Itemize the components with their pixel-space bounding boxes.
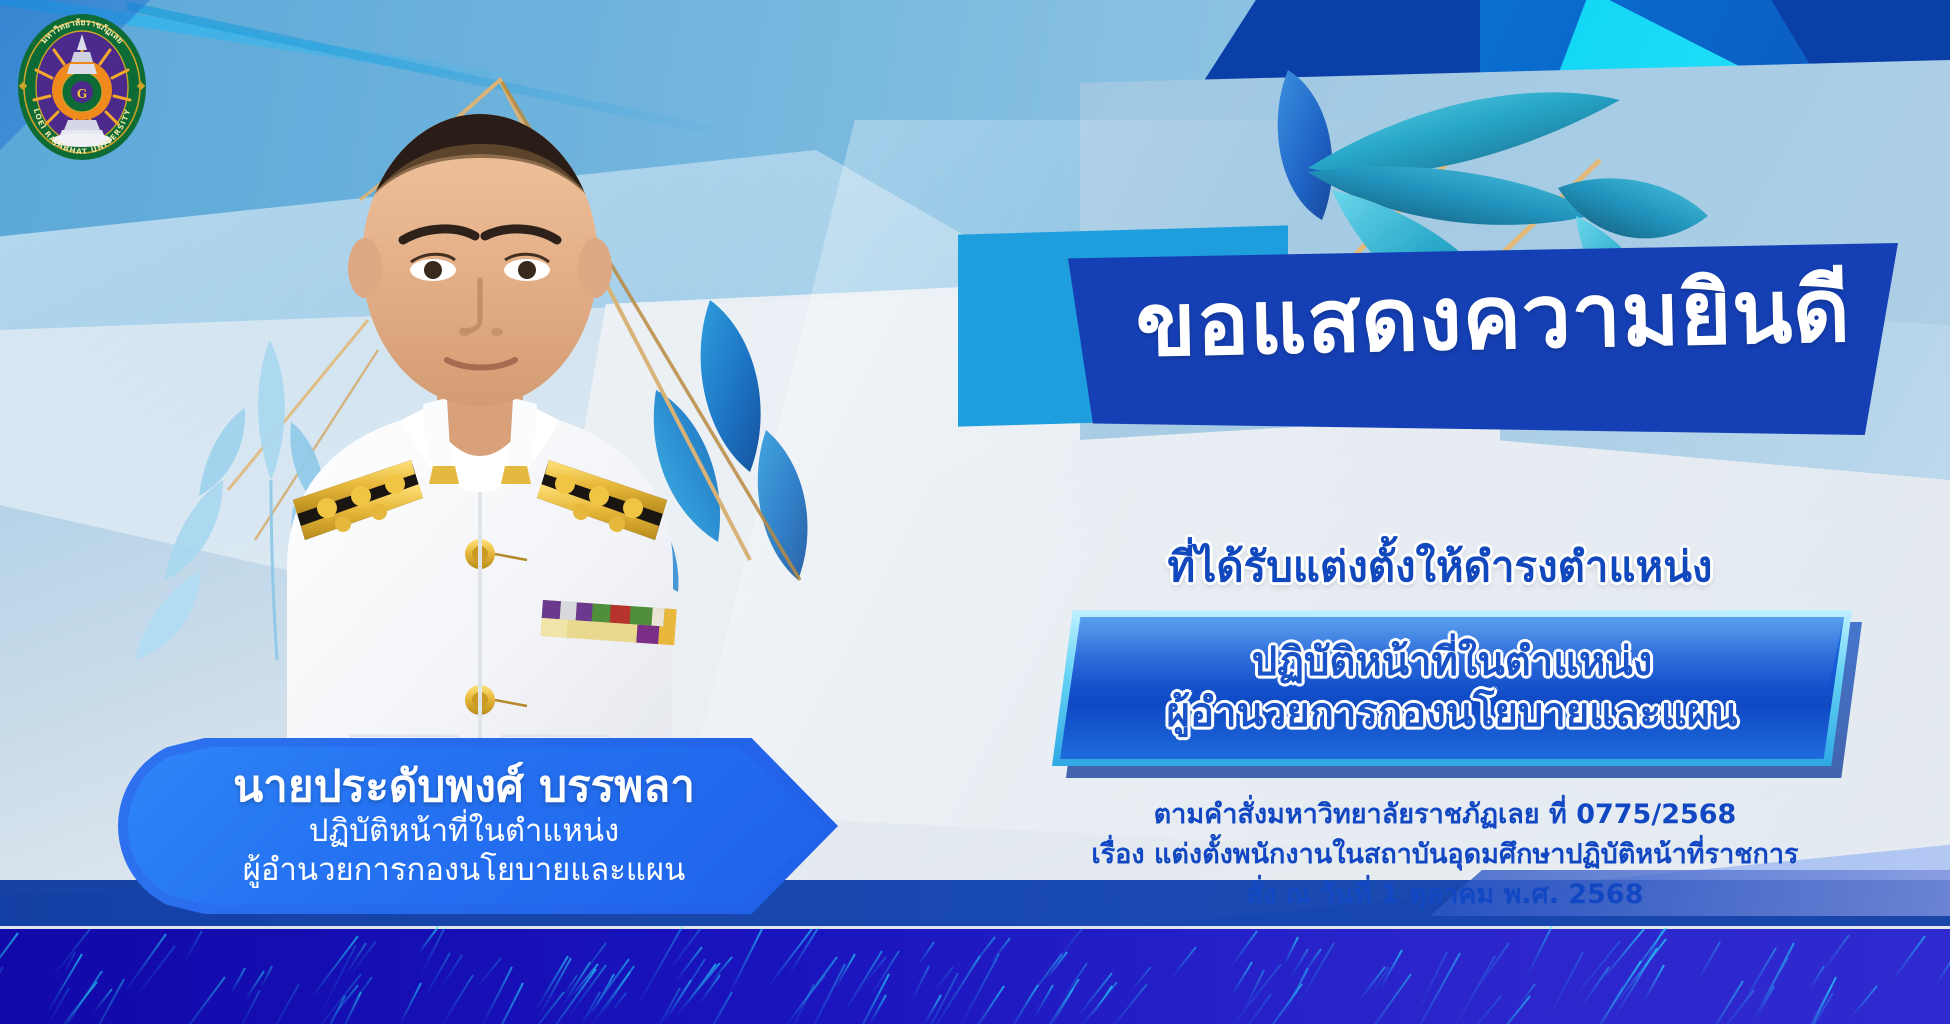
bottom-strip-dash	[1414, 952, 1461, 1024]
bottom-strip-dash	[835, 954, 856, 989]
congratulations-banner: G มหาวิทยาลัยราชภัฏเลย LOEI RAJABHAT UNI…	[0, 0, 1950, 1024]
subtitle-text: ที่ได้รับแต่งตั้งให้ดำรงตำแหน่ง	[1000, 540, 1880, 595]
honoree-role-line1: ปฏิบัติหน้าที่ในตำแหน่ง	[309, 812, 619, 851]
bottom-strip-dash	[1230, 931, 1258, 968]
bottom-strip-dash	[728, 928, 763, 995]
bottom-strip-dash	[0, 967, 4, 992]
order-line-3: สั่ง ณ วันที่ 1 ตุลาคม พ.ศ. 2568	[1000, 875, 1890, 915]
bottom-strip-dash	[1643, 964, 1665, 1001]
bottom-strip-dash	[1696, 942, 1721, 983]
bottom-strip-dash	[1091, 985, 1113, 1016]
headline-banner: ขอแสดงความยินดี	[958, 225, 1938, 435]
position-line-1: ปฏิบัติหน้าที่ในตำแหน่ง	[1252, 637, 1653, 688]
bottom-strip-dash	[1850, 985, 1878, 1018]
bottom-strip-dash	[869, 995, 887, 1024]
bottom-strip-dash	[958, 954, 1001, 1024]
svg-text:G: G	[77, 87, 87, 101]
honoree-name: นายประดับพงศ์ บรรพลา	[233, 762, 695, 811]
nameplate: นายประดับพงศ์ บรรพลา ปฏิบัติหน้าที่ในตำแ…	[118, 738, 838, 914]
nameplate-content: นายประดับพงศ์ บรรพลา ปฏิบัติหน้าที่ในตำแ…	[118, 738, 838, 914]
position-line-2: ผู้อำนวยการกองนโยบายและแผน	[1167, 688, 1738, 739]
bottom-strip-dash	[1519, 984, 1536, 1006]
bottom-strip-dash	[1809, 966, 1825, 990]
bottom-strip-dash	[1059, 963, 1088, 1004]
bottom-strip-dash	[172, 976, 226, 1024]
bottom-strip-dash	[766, 929, 812, 989]
position-box: ปฏิบัติหน้าที่ในตำแหน่ง ผู้อำนวยการกองนโ…	[1052, 610, 1852, 766]
bottom-strip-dash	[1231, 962, 1253, 997]
bottom-strip-dash	[969, 985, 1005, 1024]
order-line-1: ตามคำสั่งมหาวิทยาลัยราชภัฏเลย ที่ 0775/2…	[1000, 795, 1890, 835]
order-line-2: เรื่อง แต่งตั้งพนักงานในสถาบันอุดมศึกษาป…	[1000, 835, 1890, 875]
bottom-strip-dash	[698, 974, 721, 1005]
bottom-strip-dash	[258, 983, 301, 1024]
bottom-strip-dash	[399, 982, 423, 1024]
headline-text: ขอแสดงความยินดี	[1097, 255, 1889, 382]
bottom-strip-dash	[230, 968, 246, 996]
bottom-strip-dash	[1589, 986, 1624, 1024]
bottom-strip-dash	[1295, 943, 1334, 1007]
bottom-strip-dash	[1045, 951, 1068, 980]
bottom-strip-dash	[1525, 926, 1552, 979]
bottom-strip-dash	[438, 955, 463, 992]
position-box-text: ปฏิบัติหน้าที่ในตำแหน่ง ผู้อำนวยการกองนโ…	[1052, 610, 1852, 766]
bottom-strip-hairline	[0, 926, 1950, 929]
bottom-strip-dash	[1106, 983, 1148, 1024]
bottom-strip-dash	[1706, 980, 1744, 1024]
bottom-strip-dash	[1546, 951, 1584, 1021]
bottom-strip-dash	[909, 965, 930, 1004]
bottom-strip-dash	[1935, 957, 1950, 985]
university-logo: G มหาวิทยาลัยราชภัฏเลย LOEI RAJABHAT UNI…	[14, 12, 150, 162]
bottom-strip-dash	[83, 979, 125, 1024]
bottom-strip-dash	[675, 946, 702, 981]
bottom-strip-dash	[917, 941, 935, 966]
honoree-role-line2: ผู้อำนวยการกองนโยบายและแผน	[243, 851, 686, 890]
bottom-strip-dash	[1283, 937, 1299, 966]
bottom-strip-dash	[1568, 940, 1621, 1005]
portrait-photo	[175, 48, 785, 848]
bottom-strip-dash	[52, 971, 103, 1024]
bottom-strip-dash	[260, 966, 273, 989]
bottom-strip-dash	[1451, 956, 1496, 1024]
bottom-strip-dash	[1169, 946, 1196, 979]
bottom-strip-dash	[1742, 947, 1777, 1004]
bottom-strip-dash	[584, 958, 630, 1021]
bottom-strip-dash	[475, 957, 502, 990]
bottom-strip-dash	[932, 967, 954, 994]
bottom-strip-dash	[1821, 934, 1850, 973]
bottom-strip-dash	[184, 931, 203, 963]
bottom-strip-dash	[1454, 995, 1503, 1024]
order-details: ตามคำสั่งมหาวิทยาลัยราชภัฏเลย ที่ 0775/2…	[1000, 795, 1890, 915]
bottom-strip-dash	[1891, 935, 1926, 982]
bottom-strip-dash	[1052, 927, 1084, 965]
bottom-strip	[0, 926, 1950, 1024]
